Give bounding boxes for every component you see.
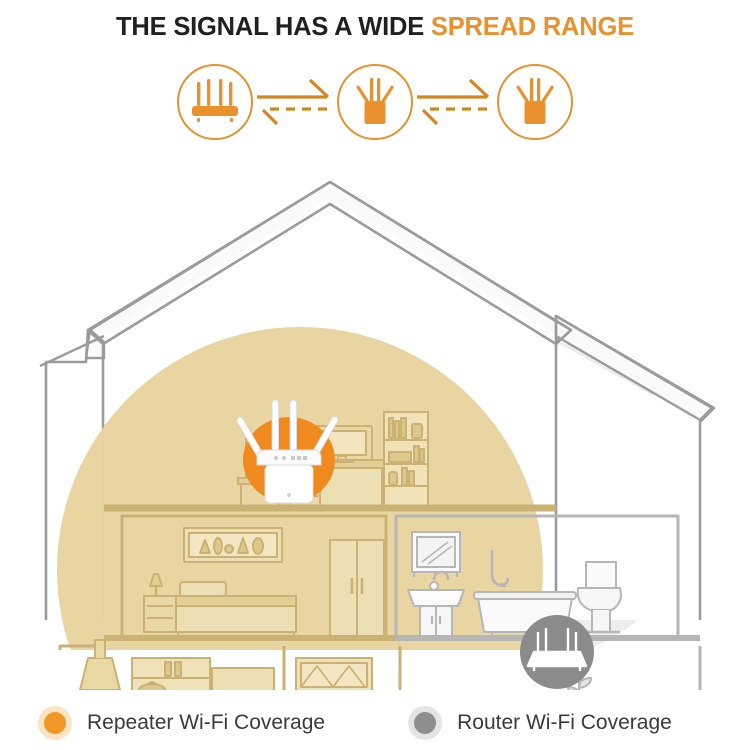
- legend-label-repeater: Repeater Wi-Fi Coverage: [87, 711, 325, 735]
- page-title-primary: THE SIGNAL HAS A WIDE: [116, 13, 424, 41]
- kitchen-shelf: [132, 658, 210, 690]
- infographic-root: THE SIGNAL HAS A WIDE SPREAD RANGE: [0, 0, 750, 750]
- framed-picture: [184, 528, 282, 562]
- flow-step-extender-2: [497, 64, 573, 140]
- repeater-coverage-swatch: [38, 706, 72, 740]
- bookshelf: [384, 412, 428, 506]
- flow-step-extender-1: [337, 64, 413, 140]
- legend: Repeater Wi-Fi Coverage Router Wi-Fi Cov…: [0, 695, 750, 750]
- legend-label-router: Router Wi-Fi Coverage: [457, 711, 672, 735]
- bidirectional-arrow-icon: [415, 77, 495, 127]
- flow-link-1: [253, 74, 337, 130]
- refrigerator: [212, 668, 274, 690]
- nightstand: [144, 596, 176, 632]
- router-coverage-swatch: [408, 706, 442, 740]
- flow-step-router: [177, 64, 253, 140]
- range-extender-icon: [509, 77, 561, 127]
- wardrobe: [330, 540, 384, 638]
- legend-item-repeater[interactable]: Repeater Wi-Fi Coverage: [38, 706, 325, 740]
- page-title-accent: SPREAD RANGE: [431, 13, 634, 41]
- bidirectional-arrow-icon: [255, 77, 335, 127]
- legend-item-router[interactable]: Router Wi-Fi Coverage: [408, 706, 672, 740]
- header: THE SIGNAL HAS A WIDE SPREAD RANGE: [0, 0, 750, 54]
- mirror: [412, 532, 460, 577]
- range-extender-icon: [349, 77, 401, 127]
- house-cutaway-illustration: [0, 150, 750, 690]
- router-device-badge[interactable]: [520, 615, 594, 689]
- router-icon: [189, 79, 241, 125]
- device-flow-strip: [0, 62, 750, 142]
- page-title: THE SIGNAL HAS A WIDE SPREAD RANGE: [116, 13, 634, 42]
- wall-art: [296, 658, 372, 690]
- flow-link-2: [413, 74, 497, 130]
